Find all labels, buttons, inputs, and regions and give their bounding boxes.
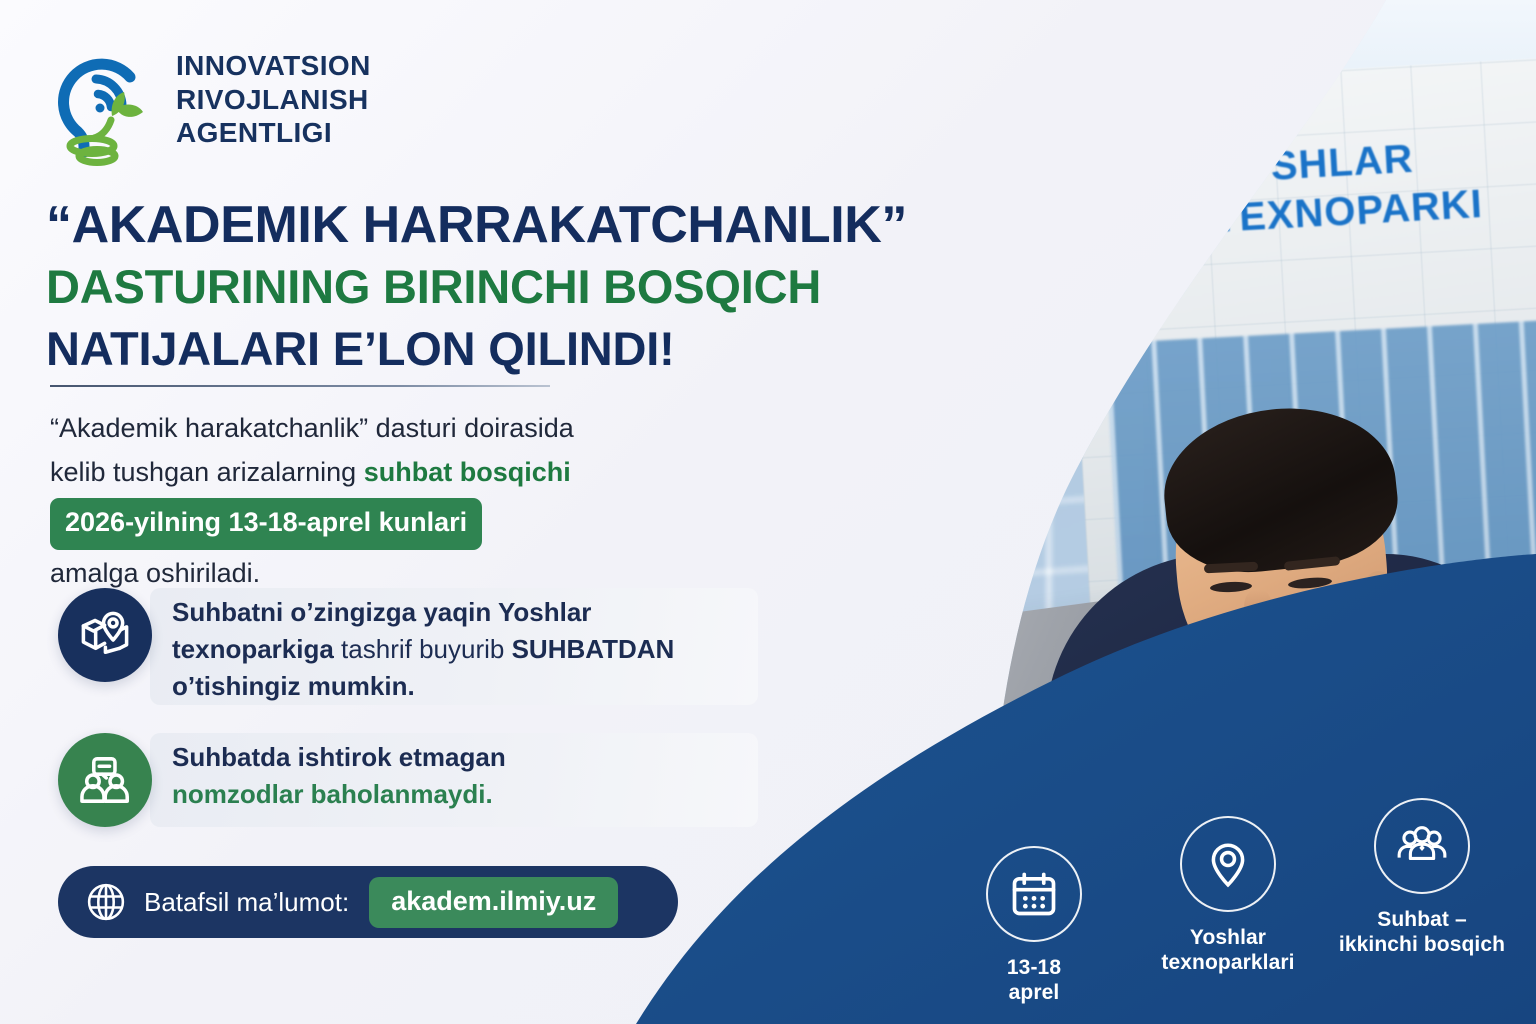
card2-line-2: nomzodlar baholanmaydi. [172,776,506,813]
panel-label-dates: 13-18 aprel [948,956,1120,1006]
date-pill: 2026-yilning 13-18-aprel kunlari [50,498,482,550]
map-pin-icon [58,588,152,682]
globe-icon [84,880,128,924]
paragraph-line-2-regular: kelib tushgan arizalarning [50,457,364,487]
card1-line-2: texnoparkiga tashrif buyurib SUHBATDAN [172,631,674,668]
group-people-icon [1374,798,1470,894]
headline-line-1: “AKADEMIK HARRAKATCHANLIK” [46,196,966,254]
card1-line-1: Suhbatni o’zingizga yaqin Yoshlar [172,594,674,631]
card1-line2-bold: texnoparkiga [172,634,334,664]
more-info-bar[interactable]: Batafsil ma’lumot: akadem.ilmiy.uz [58,866,678,938]
card1-line2-regular: tashrif buyurib [334,634,512,664]
headline-line-2: DASTURINING BIRINCHI BOSQICH [46,258,966,315]
website-url-button[interactable]: akadem.ilmiy.uz [369,877,618,928]
info-card-location: Suhbatni o’zingizga yaqin Yoshlar texnop… [58,588,758,705]
panel-item-interview: Suhbat – ikkinchi bosqich [1336,798,1508,958]
more-info-label: Batafsil ma’lumot: [144,887,349,918]
panel-dates-line2: aprel [948,981,1120,1006]
info-card-location-text: Suhbatni o’zingizga yaqin Yoshlar texnop… [172,588,674,705]
calendar-icon [986,846,1082,942]
panel-label-interview: Suhbat – ikkinchi bosqich [1336,908,1508,958]
agency-logo: INNOVATSION RIVOJLANISH AGENTLIGI [44,32,371,167]
logo-line-1: INNOVATSION [176,49,371,83]
paragraph-date-row: 2026-yilning 13-18-aprel kunlari [50,494,710,552]
yoshlar-texnoparki-flower-logo-icon [1139,163,1204,228]
headline-line-3: NATIJALARI E’LON QILINDI! [46,320,966,377]
agency-logo-text: INNOVATSION RIVOJLANISH AGENTLIGI [176,49,371,150]
panel-label-location: Yoshlar texnoparklari [1142,926,1314,976]
panel-item-dates: 13-18 aprel [948,846,1120,1006]
headline-divider [50,385,550,387]
paragraph-line-2: kelib tushgan arizalarning suhbat bosqic… [50,451,710,495]
panel-location-line1: Yoshlar [1142,926,1314,951]
card1-line2-bold2: SUHBATDAN [512,634,675,664]
panel-interview-line2: ikkinchi bosqich [1336,933,1508,958]
logo-line-3: AGENTLIGI [176,116,371,150]
paragraph-line-1: “Akademik harakatchanlik” dasturi doiras… [50,407,710,451]
lightbulb-wifi-plant-logo-icon [44,32,162,167]
poster-canvas: YOSHLAR TEXNOPARKI [0,0,1536,1024]
paragraph-highlight: suhbat bosqichi [364,457,571,487]
panel-interview-line1: Suhbat – [1336,908,1508,933]
panel-item-location: Yoshlar texnoparklari [1142,816,1314,976]
interview-people-icon [58,733,152,827]
panel-dates-line1: 13-18 [948,956,1120,981]
card1-line-3: o’tishingiz mumkin. [172,668,674,705]
info-card-attendance: Suhbatda ishtirok etmagan nomzodlar baho… [58,733,758,827]
panel-item-list: 13-18 aprel Yoshlar texnoparklari [948,772,1508,1002]
description-paragraph: “Akademik harakatchanlik” dasturi doiras… [50,407,710,596]
panel-location-line2: texnoparklari [1142,951,1314,976]
card2-line-1: Suhbatda ishtirok etmagan [172,739,506,776]
page-title: “AKADEMIK HARRAKATCHANLIK” DASTURINING B… [46,196,966,377]
logo-line-2: RIVOJLANISH [176,83,371,117]
location-pin-icon [1180,816,1276,912]
info-card-attendance-text: Suhbatda ishtirok etmagan nomzodlar baho… [172,733,506,813]
